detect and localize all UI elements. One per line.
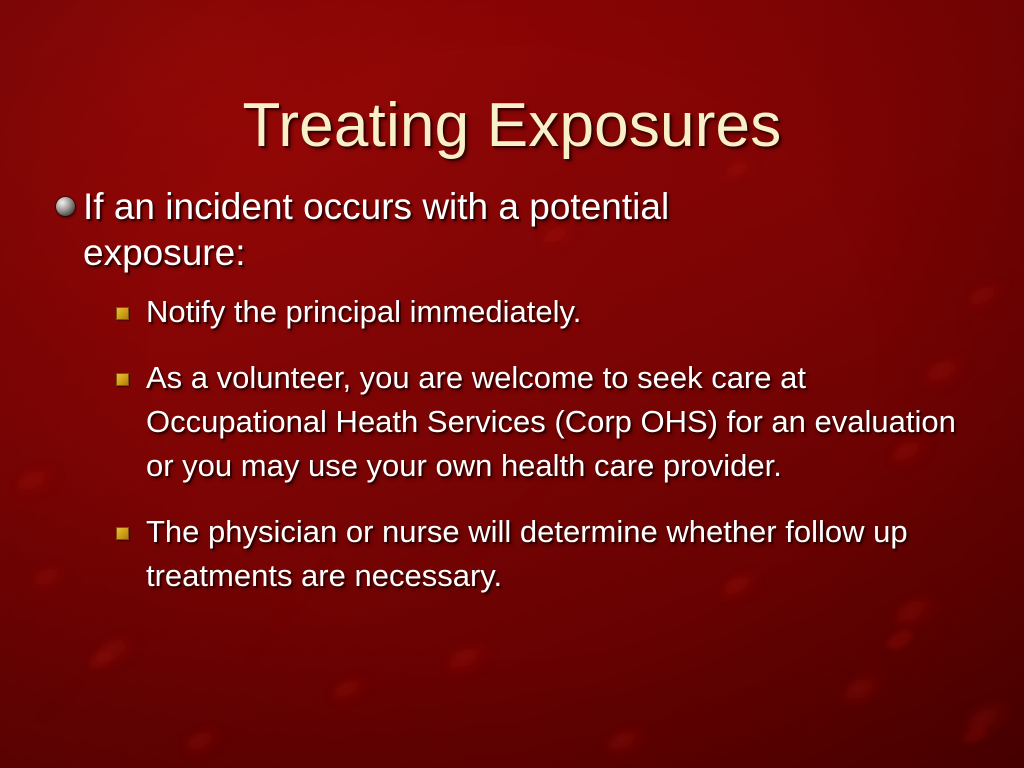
sphere-bullet-icon xyxy=(56,197,75,216)
list-item: Notify the principal immediately. xyxy=(116,290,986,334)
presentation-slide: Treating Exposures If an incident occurs… xyxy=(0,0,1024,768)
slide-body: If an incident occurs with a potential e… xyxy=(56,184,986,598)
bullet-level1-text: If an incident occurs with a potential e… xyxy=(83,184,828,276)
slide-title-container: Treating Exposures xyxy=(0,52,1024,198)
list-item: As a volunteer, you are welcome to seek … xyxy=(116,356,986,488)
bullet-level2-text: As a volunteer, you are welcome to seek … xyxy=(146,356,966,488)
list-item: The physician or nurse will determine wh… xyxy=(116,510,986,598)
bullet-level2-list: Notify the principal immediately. As a v… xyxy=(116,290,986,598)
bullet-level1: If an incident occurs with a potential e… xyxy=(56,184,986,276)
square-bullet-icon xyxy=(116,373,129,386)
bullet-level2-text: The physician or nurse will determine wh… xyxy=(146,510,966,598)
square-bullet-icon xyxy=(116,307,129,320)
square-bullet-icon xyxy=(116,527,129,540)
page-title: Treating Exposures xyxy=(243,94,782,157)
bullet-level2-text: Notify the principal immediately. xyxy=(146,290,966,334)
